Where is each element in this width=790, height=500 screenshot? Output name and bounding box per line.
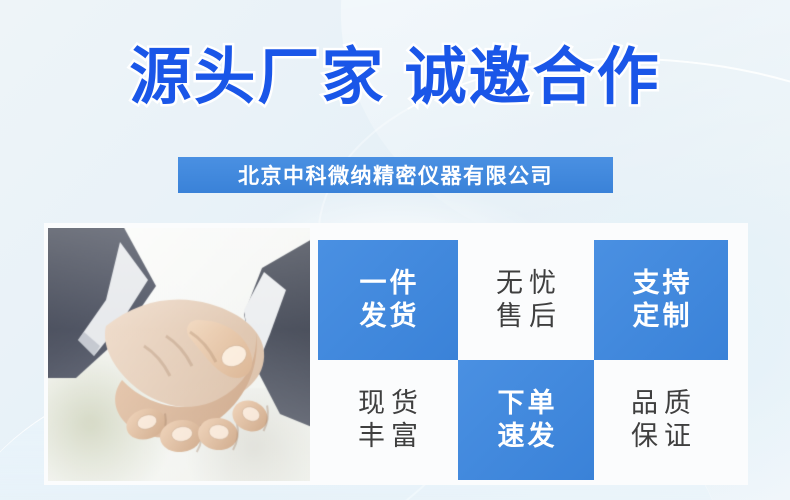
feature-cell-line1: 支持 <box>630 267 693 300</box>
feature-cell: 支持定制 <box>594 240 728 360</box>
feature-cell: 品质保证 <box>594 360 728 480</box>
feature-cell: 下单速发 <box>458 360 594 480</box>
feature-grid: 一件发货无忧售后支持定制现货丰富下单速发品质保证 <box>318 240 728 480</box>
feature-cell-line2: 售后 <box>490 300 562 333</box>
feature-cell-line1: 一件 <box>357 267 420 300</box>
promo-banner: 源头厂家 诚邀合作 北京中科微纳精密仪器有限公司 一件发货无忧售后支持定制现货丰… <box>0 0 790 500</box>
company-name-text: 北京中科微纳精密仪器有限公司 <box>238 160 553 190</box>
handshake-photo-canvas <box>48 228 310 481</box>
feature-cell-line2: 保证 <box>625 420 697 453</box>
feature-cell-line2: 定制 <box>630 300 693 333</box>
company-name-bar: 北京中科微纳精密仪器有限公司 <box>178 157 613 193</box>
feature-cell: 现货丰富 <box>318 360 458 480</box>
feature-cell: 无忧售后 <box>458 240 594 360</box>
feature-cell-line1: 现货 <box>352 387 424 420</box>
feature-cell-line2: 丰富 <box>352 420 424 453</box>
feature-cell-line1: 下单 <box>495 387 558 420</box>
handshake-photo <box>48 228 310 481</box>
feature-cell: 一件发货 <box>318 240 458 360</box>
banner-headline: 源头厂家 诚邀合作 <box>0 42 790 114</box>
feature-cell-line2: 发货 <box>357 300 420 333</box>
feature-cell-line1: 品质 <box>625 387 697 420</box>
feature-cell-line1: 无忧 <box>490 267 562 300</box>
feature-cell-line2: 速发 <box>495 420 558 453</box>
